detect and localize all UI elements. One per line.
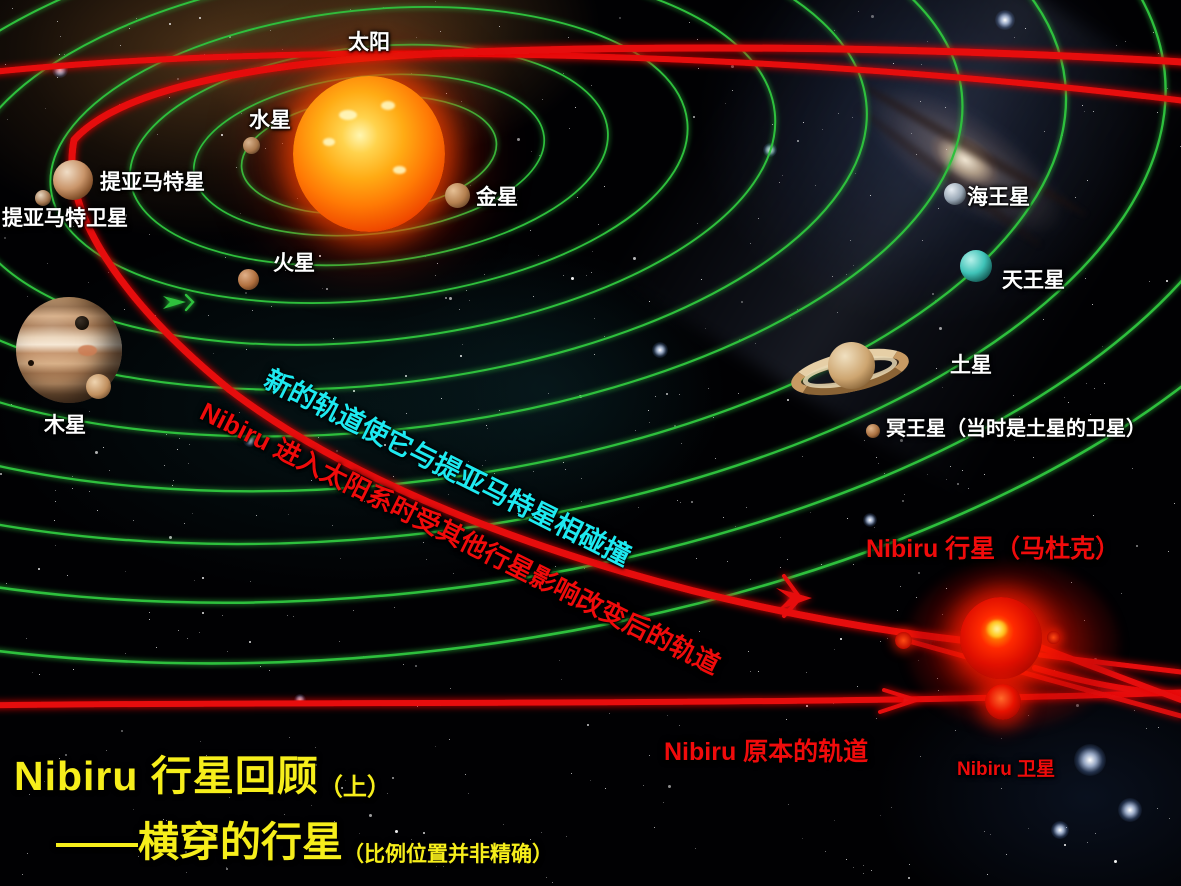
label-mars: 火星: [273, 253, 315, 274]
pluto-body: [866, 424, 880, 438]
label-venus: 金星: [476, 187, 518, 208]
jupiter-moon-body: [86, 374, 111, 399]
label-neptune: 海王星: [967, 187, 1030, 208]
uranus-body: [960, 250, 992, 282]
page-title-suffix: （上）: [319, 767, 391, 802]
label-mercury: 水星: [249, 110, 291, 131]
mercury-body: [243, 137, 260, 154]
nibiru-satellite-left: [895, 632, 912, 649]
nibiru-body: [960, 597, 1042, 679]
jupiter-moon-shadow: [75, 316, 89, 330]
neptune-body: [944, 183, 966, 205]
label-uranus: 天王星: [1002, 270, 1065, 291]
nibiru-satellite-right: [1047, 631, 1060, 644]
label-saturn: 土星: [950, 355, 992, 376]
jupiter-great-red-spot: [78, 345, 97, 356]
page-subtitle: ——横穿的行星: [14, 808, 343, 868]
tiamat-body: [53, 160, 93, 200]
title-block: Nibiru 行星回顾 （上） ——横穿的行星 （比例位置并非精确）: [14, 742, 553, 868]
page-title: Nibiru 行星回顾: [14, 742, 319, 802]
nibiru-hotspot: [986, 620, 1008, 638]
nibiru-moon-body: [985, 684, 1021, 720]
page-subtitle-note: （比例位置并非精确）: [343, 838, 553, 868]
sun-body: [293, 76, 445, 232]
label-sun: 太阳: [348, 32, 390, 53]
label-jupiter: 木星: [44, 415, 86, 436]
nibiru-diagram: 太阳 水星 金星 火星 提亚马特星 提亚马特卫星 木星 土星 天王星 海王星 冥…: [0, 0, 1181, 886]
label-tiamat-moon: 提亚马特卫星: [2, 208, 128, 229]
saturn-body: [790, 334, 910, 406]
label-tiamat: 提亚马特星: [100, 172, 205, 193]
label-original-orbit: Nibiru 原本的轨道: [664, 740, 868, 765]
mars-body: [238, 269, 259, 290]
label-pluto: 冥王星（当时是土星的卫星）: [886, 419, 1146, 439]
tiamat-moon-body: [35, 190, 51, 206]
venus-body: [445, 183, 470, 208]
label-nibiru-moon: Nibiru 卫星: [957, 760, 1055, 779]
label-nibiru-planet: Nibiru 行星（马杜克）: [866, 537, 1120, 562]
jupiter-moon-dot: [28, 360, 34, 366]
